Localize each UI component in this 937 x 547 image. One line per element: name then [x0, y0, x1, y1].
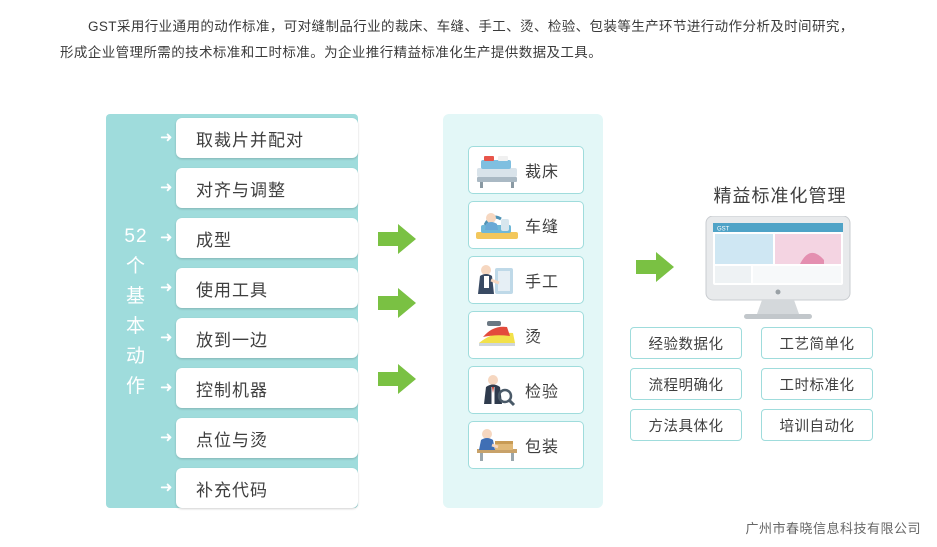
- action-row[interactable]: ➜ 成型: [176, 218, 358, 258]
- benefit-tag-label: 工时标准化: [780, 374, 855, 395]
- arrow-right-icon: ➜: [160, 431, 180, 445]
- benefit-tag[interactable]: 工艺简单化: [761, 327, 873, 359]
- monitor-illustration: GST: [700, 216, 856, 322]
- handwork-icon: [471, 260, 523, 300]
- arrow-right-icon: ➜: [160, 181, 180, 195]
- benefit-tag-label: 培训自动化: [780, 415, 855, 436]
- action-row[interactable]: ➜ 控制机器: [176, 368, 358, 408]
- process-row[interactable]: 车缝: [468, 201, 584, 249]
- benefit-tag-label: 方法具体化: [649, 415, 724, 436]
- intro-paragraph: GST采用行业通用的动作标准，可对缝制品行业的裁床、车缝、手工、烫、检验、包装等…: [60, 14, 880, 66]
- action-label: 使用工具: [176, 276, 268, 301]
- process-row[interactable]: 包装: [468, 421, 584, 469]
- benefit-tag[interactable]: 方法具体化: [630, 409, 742, 441]
- action-label: 放到一边: [176, 326, 268, 351]
- flow-arrow-icon: [636, 252, 674, 282]
- packing-icon: [471, 425, 523, 465]
- process-label: 烫: [523, 323, 542, 347]
- cutting-table-icon: [471, 150, 523, 190]
- benefit-tag[interactable]: 工时标准化: [761, 368, 873, 400]
- process-label: 手工: [523, 268, 559, 292]
- action-label: 对齐与调整: [176, 176, 286, 201]
- inspection-icon: [471, 370, 523, 410]
- action-row[interactable]: ➜ 使用工具: [176, 268, 358, 308]
- ironing-icon: [471, 315, 523, 355]
- action-row[interactable]: ➜ 取裁片并配对: [176, 118, 358, 158]
- action-row[interactable]: ➜ 放到一边: [176, 318, 358, 358]
- benefit-tag[interactable]: 培训自动化: [761, 409, 873, 441]
- intro-line-1: GST采用行业通用的动作标准，可对缝制品行业的裁床、车缝、手工、烫、检验、包装等…: [60, 14, 880, 40]
- basic-actions-label: 52个基本动作: [118, 222, 154, 402]
- action-row[interactable]: ➜ 点位与烫: [176, 418, 358, 458]
- sewing-machine-icon: [471, 205, 523, 245]
- flow-arrow-icon: [378, 224, 416, 254]
- process-row[interactable]: 检验: [468, 366, 584, 414]
- process-row[interactable]: 烫: [468, 311, 584, 359]
- benefit-tag[interactable]: 流程明确化: [630, 368, 742, 400]
- process-label: 包装: [523, 433, 559, 457]
- footer-company: 广州市春晓信息科技有限公司: [745, 518, 921, 537]
- arrow-right-icon: ➜: [160, 381, 180, 395]
- arrow-right-icon: ➜: [160, 331, 180, 345]
- intro-line-2: 形成企业管理所需的技术标准和工时标准。为企业推行精益标准化生产提供数据及工具。: [60, 40, 880, 66]
- action-row[interactable]: ➜ 补充代码: [176, 468, 358, 508]
- benefit-tag-label: 经验数据化: [649, 333, 724, 354]
- action-label: 成型: [176, 226, 232, 251]
- flow-arrow-icon: [378, 364, 416, 394]
- action-label: 补充代码: [176, 476, 268, 501]
- process-label: 车缝: [523, 213, 559, 237]
- process-label: 检验: [523, 378, 559, 402]
- action-label: 点位与烫: [176, 426, 268, 451]
- benefit-tag[interactable]: 经验数据化: [630, 327, 742, 359]
- arrow-right-icon: ➜: [160, 281, 180, 295]
- lean-management-title: 精益标准化管理: [660, 182, 900, 208]
- svg-text:GST: GST: [717, 227, 730, 233]
- arrow-right-icon: ➜: [160, 481, 180, 495]
- process-row[interactable]: 裁床: [468, 146, 584, 194]
- benefit-tag-label: 工艺简单化: [780, 333, 855, 354]
- benefit-tag-label: 流程明确化: [649, 374, 724, 395]
- action-label: 控制机器: [176, 376, 268, 401]
- arrow-right-icon: ➜: [160, 131, 180, 145]
- process-label: 裁床: [523, 158, 559, 182]
- process-row[interactable]: 手工: [468, 256, 584, 304]
- arrow-right-icon: ➜: [160, 231, 180, 245]
- flow-arrow-icon: [378, 288, 416, 318]
- action-label: 取裁片并配对: [176, 126, 304, 151]
- action-row[interactable]: ➜ 对齐与调整: [176, 168, 358, 208]
